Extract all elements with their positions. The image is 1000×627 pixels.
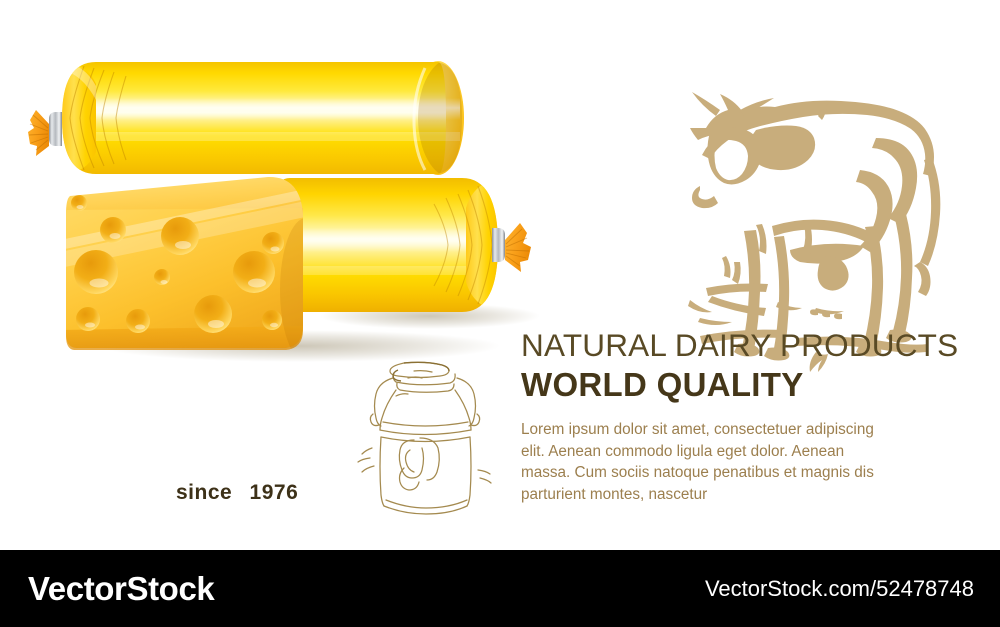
cheese-roll-top <box>28 58 486 178</box>
artwork-area: NATURAL DAIRY PRODUCTS WORLD QUALITY Lor… <box>0 0 1000 550</box>
page-subtitle: WORLD QUALITY <box>521 364 981 405</box>
clip-right <box>492 223 531 272</box>
watermark-bar: VectorStock VectorStock.com/52478748 <box>0 550 1000 627</box>
poster-canvas: NATURAL DAIRY PRODUCTS WORLD QUALITY Lor… <box>0 0 1000 627</box>
clip-left <box>28 110 62 156</box>
since-label: since 1976 <box>176 481 298 505</box>
tail-fan-left <box>28 110 49 156</box>
copy-block: NATURAL DAIRY PRODUCTS WORLD QUALITY Lor… <box>521 326 981 505</box>
body-paragraph: Lorem ipsum dolor sit amet, consectetuer… <box>521 419 893 505</box>
package-metal-clip <box>49 112 62 146</box>
cheese-wedge <box>60 177 332 362</box>
since-word: since <box>176 481 232 504</box>
page-title: NATURAL DAIRY PRODUCTS <box>521 326 981 364</box>
package-metal-clip <box>492 228 505 262</box>
milk-can-line-art <box>358 362 491 514</box>
vectorstock-logo[interactable]: VectorStock <box>28 570 214 608</box>
since-year: 1976 <box>250 481 299 504</box>
vectorstock-url[interactable]: VectorStock.com/52478748 <box>705 576 974 602</box>
tail-fan-right <box>505 223 531 272</box>
